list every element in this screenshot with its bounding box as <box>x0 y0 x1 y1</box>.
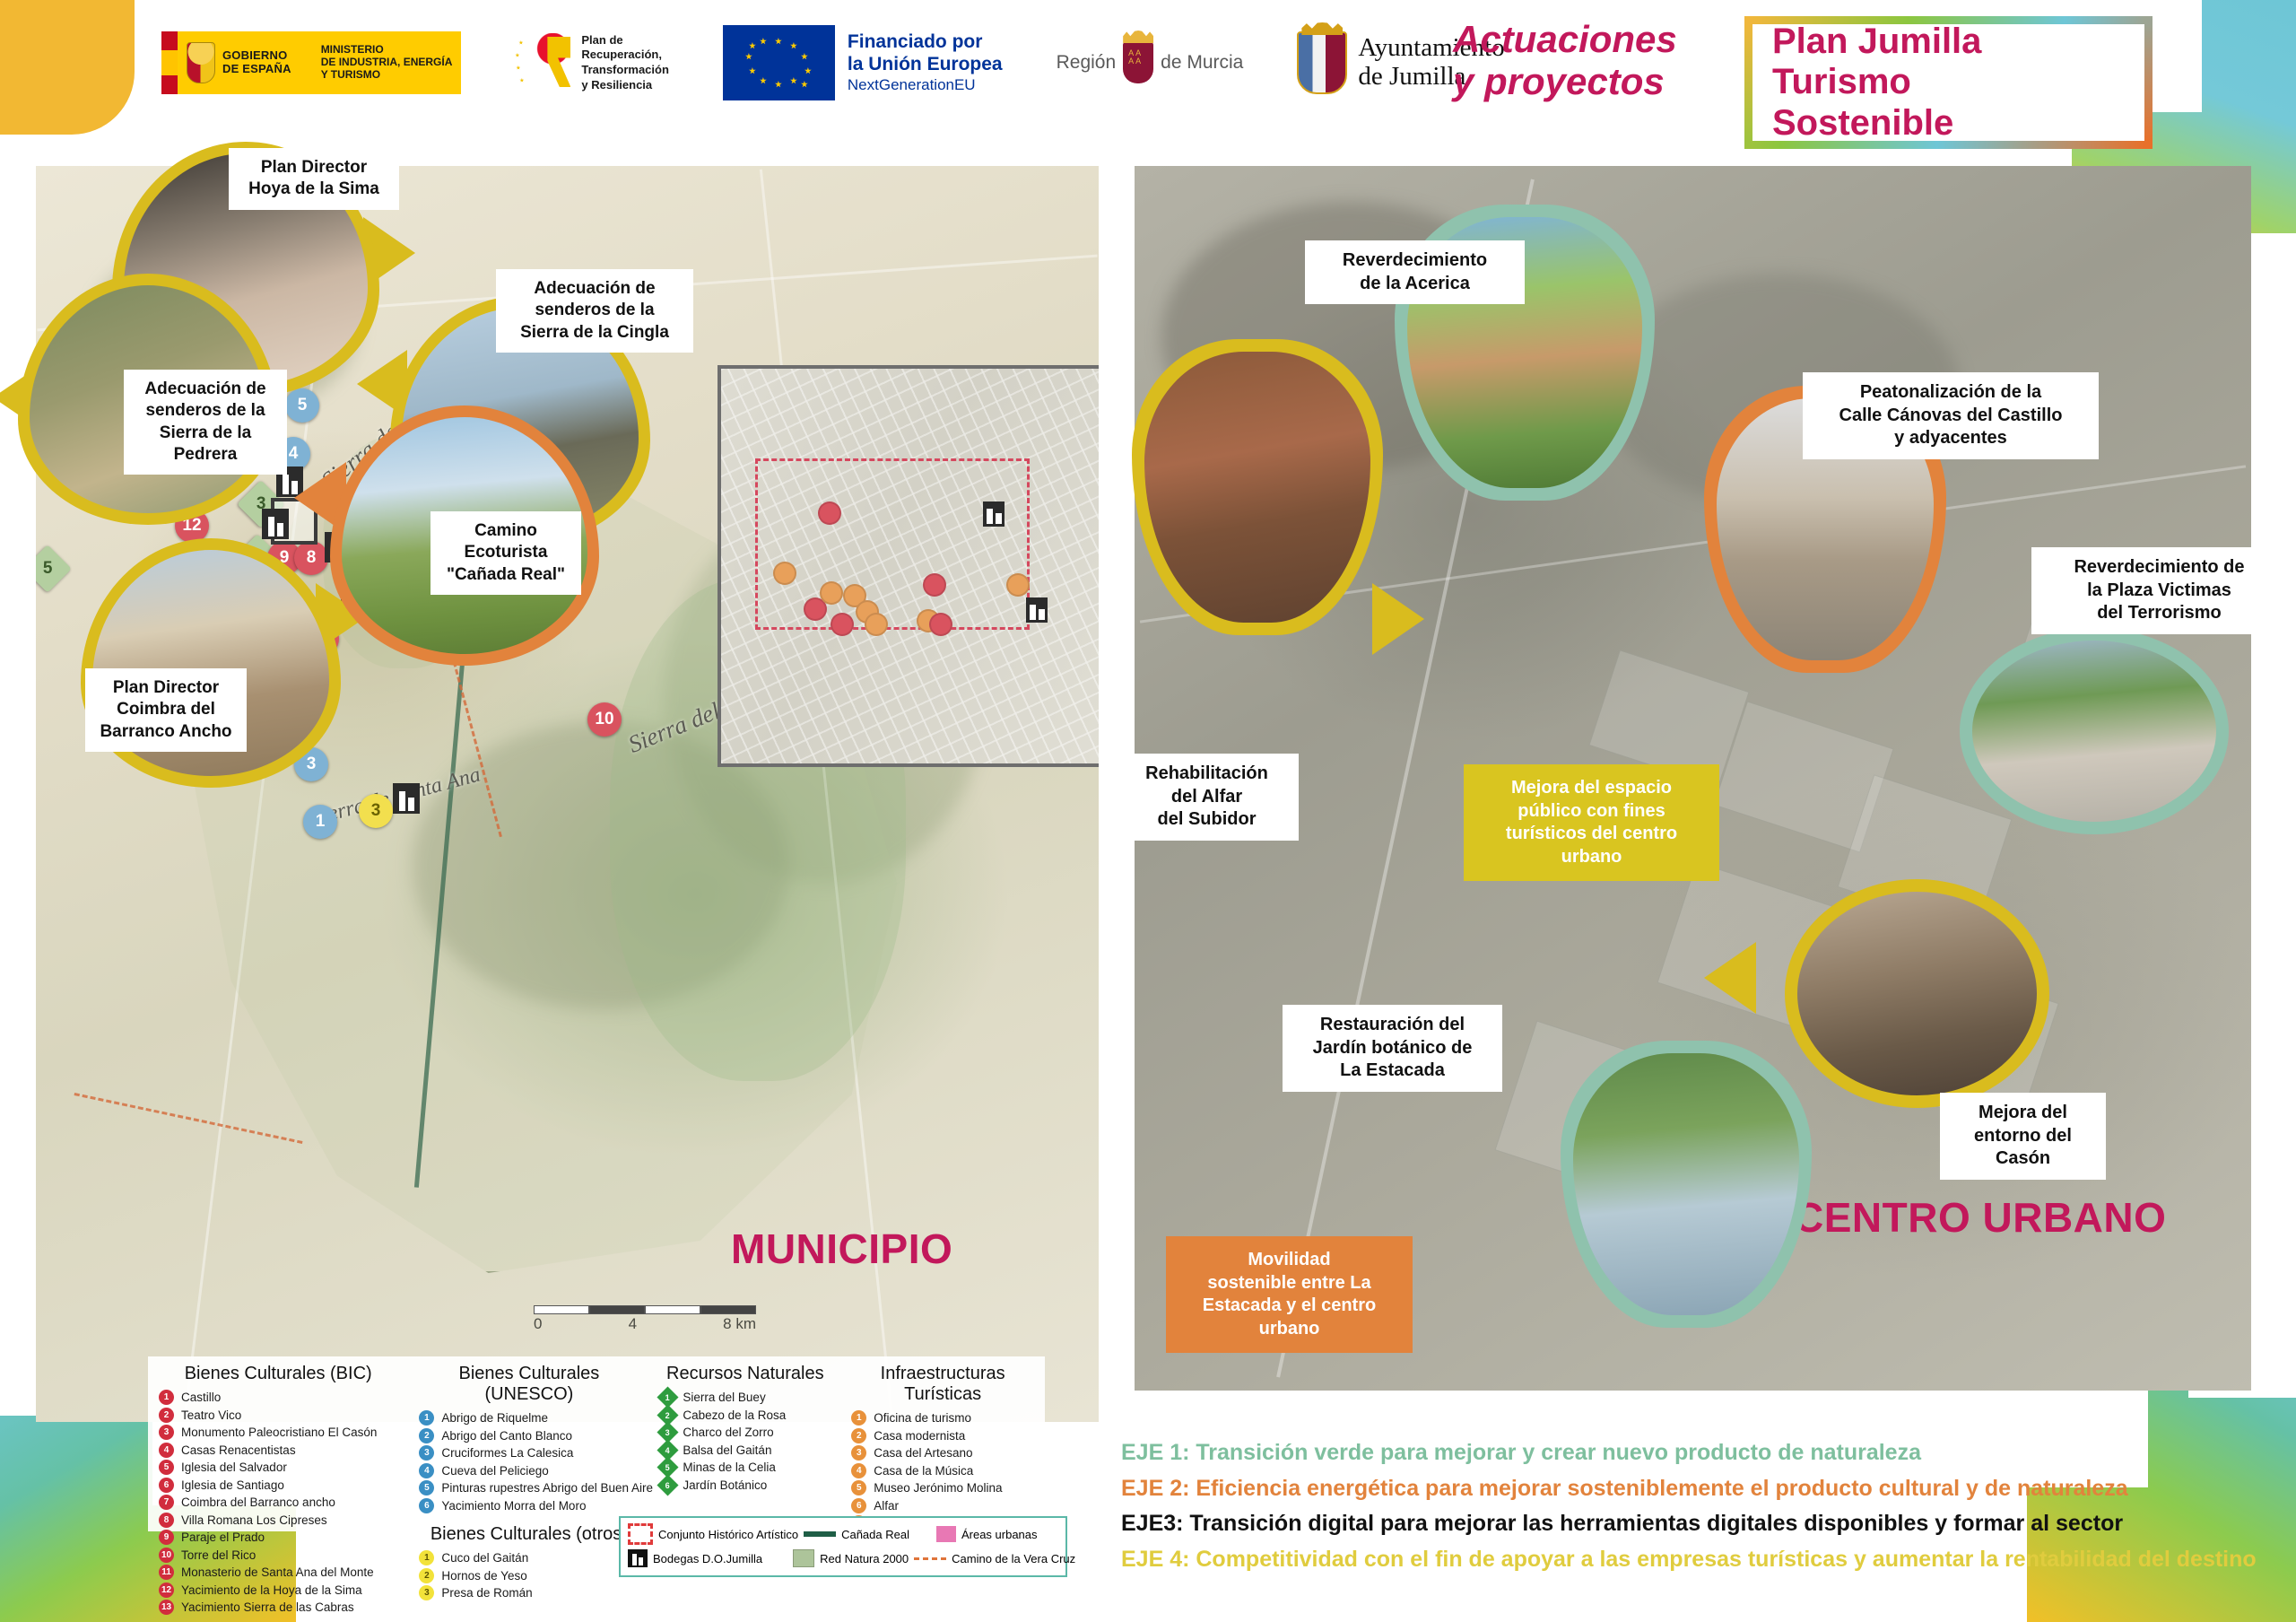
scale-tick-0: 0 <box>534 1315 542 1333</box>
legend-item: 2Teatro Vico <box>159 1408 397 1423</box>
legend-item-label: Charco del Zorro <box>683 1426 773 1439</box>
inset-pin-red <box>831 613 854 636</box>
circle-marker-icon: 12 <box>159 1583 174 1598</box>
legend-item: 1Sierra del Buey <box>660 1390 830 1405</box>
legend-item-label: Casa de la Música <box>874 1464 973 1478</box>
legend-item: 1Abrigo de Riquelme <box>419 1410 639 1426</box>
circle-marker-icon: 7 <box>159 1495 174 1510</box>
murcia-left-word: Región <box>1057 52 1117 74</box>
crown-icon <box>1123 31 1153 43</box>
legend-item: 6Yacimiento Morra del Moro <box>419 1498 639 1513</box>
legend-symbol-natura: Red Natura 2000 <box>820 1552 909 1565</box>
legend-item-label: Iglesia de Santiago <box>181 1478 284 1492</box>
camino-vera-cruz-icon <box>914 1557 946 1560</box>
legend-item-label: Villa Romana Los Cipreses <box>181 1513 327 1527</box>
legend-group-unesco: Bienes Culturales (UNESCO) 1Abrigo de Ri… <box>419 1364 639 1524</box>
map-pin-1-blue[interactable]: 1 <box>303 805 337 839</box>
inset-pin-red <box>929 613 952 636</box>
historic-center-boundary <box>755 458 1030 630</box>
legend-symbol-conjunto: Conjunto Histórico Artístico <box>658 1528 798 1541</box>
legend-item: 1Oficina de turismo <box>851 1410 1034 1426</box>
legend-item-label: Torre del Rico <box>181 1548 256 1562</box>
murcia-right-word: de Murcia <box>1161 52 1243 74</box>
legend-item-label: Monasterio de Santa Ana del Monte <box>181 1565 374 1579</box>
legend-item-label: Balsa del Gaitán <box>683 1443 771 1457</box>
legend-item-label: Paraje el Prado <box>181 1530 265 1544</box>
circle-marker-icon: 5 <box>851 1480 866 1496</box>
circle-marker-icon: 3 <box>159 1425 174 1440</box>
circle-marker-icon: 1 <box>419 1410 434 1426</box>
legend-item-label: Yacimiento Morra del Moro <box>441 1499 586 1513</box>
inset-pin-orange <box>773 562 796 585</box>
legend-item-label: Casa modernista <box>874 1429 965 1443</box>
legend-title-naturales: Recursos Naturales <box>660 1364 830 1384</box>
legend-item: 4Casas Renacentistas <box>159 1443 397 1458</box>
legend-item-label: Abrigo de Riquelme <box>441 1411 548 1425</box>
gobierno-label: GOBIERNO DE ESPAÑA <box>222 49 291 75</box>
legend-item: 4Cueva del Peliciego <box>419 1463 639 1478</box>
label-plan-director-coimbra: Plan Director Coimbra del Barranco Ancho <box>85 668 247 752</box>
circle-marker-icon: 9 <box>159 1530 174 1545</box>
eu-flag-icon <box>723 25 835 100</box>
circle-marker-icon: 6 <box>159 1478 174 1493</box>
inset-pin-orange <box>820 581 843 605</box>
prtr-stars-icon <box>515 39 527 87</box>
legend-item: 8Villa Romana Los Cipreses <box>159 1513 397 1528</box>
label-movilidad-sostenible: Movilidad sostenible entre La Estacada y… <box>1166 1236 1413 1353</box>
legend-item: 1Cuco del Gaitán <box>419 1550 639 1565</box>
bodegas-icon <box>628 1549 648 1567</box>
scale-tick-4: 4 <box>629 1315 637 1333</box>
legend-title-otros: Bienes Culturales (otros) <box>419 1524 639 1545</box>
eu-financed-text: Financiado por la Unión Europea <box>848 31 1003 76</box>
inset-pin-orange <box>1006 573 1030 597</box>
legend-item: 3Cruciformes La Calesica <box>419 1445 639 1461</box>
eje-3: EJE3: Transición digital para mejorar la… <box>1121 1506 2278 1542</box>
legend-item-label: Museo Jerónimo Molina <box>874 1481 1002 1495</box>
inset-pin-orange <box>865 613 888 636</box>
legend-item: 3Presa de Román <box>419 1585 639 1600</box>
circle-marker-icon: 5 <box>419 1480 434 1496</box>
eu-nextgeneration-text: NextGenerationEU <box>848 76 1003 94</box>
label-peatonalizacion-canovas: Peatonalización de la Calle Cánovas del … <box>1803 372 2099 459</box>
circle-marker-icon: 3 <box>419 1445 434 1461</box>
circle-marker-icon: 2 <box>419 1428 434 1443</box>
eje-1: EJE 1: Transición verde para mejorar y c… <box>1121 1435 2278 1471</box>
winery-icon <box>393 783 420 814</box>
legend-item-label: Pinturas rupestres Abrigo del Buen Aire <box>441 1481 653 1495</box>
legend-item: 1Castillo <box>159 1390 397 1405</box>
legend-item: 2Hornos de Yeso <box>419 1568 639 1583</box>
legend-items-bic: 1Castillo2Teatro Vico3Monumento Paleocri… <box>159 1390 397 1618</box>
circle-marker-icon: 4 <box>159 1443 174 1458</box>
conjunto-historico-icon <box>628 1523 653 1545</box>
winery-icon <box>983 501 1004 527</box>
label-rehabilitacion-alfar: Rehabilitación del Alfar del Subidor <box>1115 754 1299 841</box>
legend-item: 3Casa del Artesano <box>851 1445 1034 1461</box>
legend-item-label: Yacimiento de la Hoya de la Sima <box>181 1583 362 1597</box>
plan-title-text: Plan Jumilla Turismo Sostenible <box>1772 22 1981 144</box>
legend-item: 12Yacimiento de la Hoya de la Sima <box>159 1583 397 1598</box>
legend-items-naturales: 1Sierra del Buey2Cabezo de la Rosa3Charc… <box>660 1390 830 1495</box>
label-senderos-cingla: Adecuación de senderos de la Sierra de l… <box>496 269 693 353</box>
legend-symbol-veracruz: Camino de la Vera Cruz <box>952 1552 1075 1565</box>
map-pin-10[interactable]: 10 <box>587 702 622 737</box>
jumilla-shield-icon <box>1297 31 1347 94</box>
circle-marker-icon: 10 <box>159 1548 174 1563</box>
photo-cason[interactable] <box>1785 879 2049 1108</box>
actuaciones-title: Actuaciones y proyectos <box>1453 18 1722 102</box>
legend-item: 6Jardín Botánico <box>660 1478 830 1493</box>
legend-title-bic: Bienes Culturales (BIC) <box>159 1364 397 1384</box>
region-de-murcia-logo: Región AAAA de Murcia <box>1057 42 1244 83</box>
map-pin-3-yellow[interactable]: 3 <box>359 794 393 828</box>
legend-items-unesco: 1Abrigo de Riquelme2Abrigo del Canto Bla… <box>419 1410 639 1515</box>
circle-marker-icon: 6 <box>419 1498 434 1513</box>
photo-jardin-botanico[interactable] <box>1561 1041 1812 1328</box>
red-natura-icon <box>793 1549 814 1567</box>
map-right-title: CENTRO URBANO <box>1794 1193 2166 1242</box>
inset-pin-red <box>923 573 946 597</box>
legend-item-label: Teatro Vico <box>181 1408 241 1422</box>
murcia-castles-icon: AAAA <box>1128 49 1143 65</box>
legend-item-label: Casas Renacentistas <box>181 1443 296 1457</box>
prtr-mark-icon <box>515 33 570 92</box>
funder-logos: GOBIERNO DE ESPAÑA MINISTERIO DE INDUSTR… <box>161 25 1505 100</box>
scale-bar: 0 4 8 km <box>534 1305 756 1333</box>
legend-item: 9Paraje el Prado <box>159 1530 397 1545</box>
legend-item-label: Iglesia del Salvador <box>181 1461 287 1474</box>
legend-item-label: Cueva del Peliciego <box>441 1464 548 1478</box>
label-senderos-pedrera: Adecuación de senderos de la Sierra de l… <box>124 370 287 475</box>
legend-item-label: Monumento Paleocristiano El Casón <box>181 1426 377 1439</box>
label-camino-ecoturista: Camino Ecoturista "Cañada Real" <box>430 511 581 595</box>
label-reverdecimiento-acerica: Reverdecimiento de la Acerica <box>1305 240 1525 304</box>
circle-marker-icon: 4 <box>851 1463 866 1478</box>
eje-4: EJE 4: Competitividad con el fin de apoy… <box>1121 1542 2278 1578</box>
european-union-logo: Financiado por la Unión Europea NextGene… <box>723 25 1003 100</box>
label-plan-director-hoya: Plan Director Hoya de la Sima <box>229 148 399 210</box>
urban-inset-map[interactable] <box>717 365 1099 767</box>
legend-item-label: Casa del Artesano <box>874 1446 972 1460</box>
legend-item: 5Minas de la Celia <box>660 1460 830 1475</box>
legend-item-label: Cuco del Gaitán <box>441 1551 528 1565</box>
gobierno-line2: DE ESPAÑA <box>222 62 291 75</box>
circle-marker-icon: 1 <box>159 1390 174 1405</box>
circle-marker-icon: 2 <box>851 1428 866 1443</box>
legend-item: 5Museo Jerónimo Molina <box>851 1480 1034 1496</box>
circle-marker-icon: 13 <box>159 1600 174 1615</box>
circle-marker-icon: 11 <box>159 1565 174 1580</box>
circle-marker-icon: 1 <box>851 1410 866 1426</box>
label-reverdecimiento-plaza: Reverdecimiento de la Plaza Victimas del… <box>2031 547 2287 634</box>
legend-item: 4Casa de la Música <box>851 1463 1034 1478</box>
circle-marker-icon: 2 <box>159 1408 174 1423</box>
legend-item: 2Casa modernista <box>851 1428 1034 1443</box>
legend-item-label: Presa de Román <box>441 1586 532 1600</box>
legend-symbol-canada: Cañada Real <box>841 1528 909 1541</box>
label-restauracion-jardin: Restauración del Jardín botánico de La E… <box>1283 1005 1502 1092</box>
circle-marker-icon: 6 <box>851 1498 866 1513</box>
circle-marker-icon: 8 <box>159 1513 174 1528</box>
legend-item: 6Alfar <box>851 1498 1034 1513</box>
legend-item: 11Monasterio de Santa Ana del Monte <box>159 1565 397 1580</box>
legend-item: 2Abrigo del Canto Blanco <box>419 1428 639 1443</box>
legend-item-label: Alfar <box>874 1499 899 1513</box>
circle-marker-icon: 2 <box>419 1568 434 1583</box>
legend-item-label: Cruciformes La Calesica <box>441 1446 573 1460</box>
photo-alfar-subidor[interactable] <box>1132 339 1383 635</box>
circle-marker-icon: 5 <box>159 1460 174 1475</box>
circle-marker-icon: 1 <box>419 1550 434 1565</box>
legend-item: 5Pinturas rupestres Abrigo del Buen Aire <box>419 1480 639 1496</box>
legend-item: 5Iglesia del Salvador <box>159 1460 397 1475</box>
ejes-list: EJE 1: Transición verde para mejorar y c… <box>1121 1435 2278 1577</box>
inset-pin-red <box>818 501 841 525</box>
legend-item-label: Castillo <box>181 1391 221 1404</box>
header-bar: GOBIERNO DE ESPAÑA MINISTERIO DE INDUSTR… <box>0 0 2296 161</box>
legend-group-bic: Bienes Culturales (BIC) 1Castillo2Teatro… <box>159 1364 397 1524</box>
legend-item: 10Torre del Rico <box>159 1548 397 1563</box>
spain-coat-of-arms-icon <box>187 42 215 83</box>
circle-marker-icon: 3 <box>419 1585 434 1600</box>
legend-item-label: Abrigo del Canto Blanco <box>441 1429 572 1443</box>
plan-title-box: Plan Jumilla Turismo Sostenible <box>1744 16 2152 149</box>
circle-marker-icon: 4 <box>419 1463 434 1478</box>
map-legend: Bienes Culturales (BIC) 1Castillo2Teatro… <box>148 1356 1045 1531</box>
label-mejora-espacio-publico: Mejora del espacio público con fines tur… <box>1464 764 1719 881</box>
legend-symbols-box: Conjunto Histórico Artístico Cañada Real… <box>619 1516 1067 1577</box>
legend-item: 2Cabezo de la Rosa <box>660 1408 830 1423</box>
legend-symbol-bodegas: Bodegas D.O.Jumilla <box>653 1552 762 1565</box>
legend-item: 13Yacimiento Sierra de las Cabras <box>159 1600 397 1615</box>
scale-tick-8: 8 km <box>723 1315 756 1333</box>
ministerio-label: MINISTERIO DE INDUSTRIA, ENERGÍA Y TURIS… <box>321 44 453 81</box>
legend-item-label: Jardín Botánico <box>683 1478 767 1492</box>
areas-urbanas-icon <box>936 1526 956 1542</box>
eje-2: EJE 2: Eficiencia energética para mejora… <box>1121 1471 2278 1507</box>
legend-item: 4Balsa del Gaitán <box>660 1443 830 1458</box>
crown-icon <box>1301 22 1343 35</box>
legend-title-unesco: Bienes Culturales (UNESCO) <box>419 1364 639 1405</box>
plan-recuperacion-logo: Plan de Recuperación, Transformación y R… <box>515 33 669 93</box>
legend-group-naturales: Recursos Naturales 1Sierra del Buey2Cabe… <box>660 1364 830 1524</box>
legend-item: 3Monumento Paleocristiano El Casón <box>159 1425 397 1440</box>
map-pin-5-green[interactable]: 5 <box>36 545 72 593</box>
legend-item-label: Sierra del Buey <box>683 1391 765 1404</box>
circle-marker-icon: 3 <box>851 1445 866 1461</box>
legend-item-label: Hornos de Yeso <box>441 1569 526 1583</box>
legend-item: 6Iglesia de Santiago <box>159 1478 397 1493</box>
legend-item: 7Coimbra del Barranco ancho <box>159 1495 397 1510</box>
legend-item-label: Cabezo de la Rosa <box>683 1408 786 1422</box>
gobierno-line1: GOBIERNO <box>222 48 287 62</box>
legend-item: 3Charco del Zorro <box>660 1425 830 1440</box>
murcia-shield-icon: AAAA <box>1123 42 1153 83</box>
legend-item-label: Minas de la Celia <box>683 1461 776 1474</box>
legend-group-infraestructuras: Infraestructuras Turísticas 1Oficina de … <box>851 1364 1034 1524</box>
legend-item-label: Yacimiento Sierra de las Cabras <box>181 1600 354 1614</box>
pointer-cason <box>1704 942 1756 1014</box>
legend-item-label: Oficina de turismo <box>874 1411 971 1425</box>
diamond-marker-icon: 6 <box>657 1474 679 1496</box>
prtr-text: Plan de Recuperación, Transformación y R… <box>581 33 669 93</box>
legend-item-label: Coimbra del Barranco ancho <box>181 1496 335 1509</box>
map-left-title: MUNICIPIO <box>731 1225 952 1273</box>
legend-items-otros: 1Cuco del Gaitán2Hornos de Yeso3Presa de… <box>419 1550 639 1603</box>
gobierno-de-espana-logo: GOBIERNO DE ESPAÑA MINISTERIO DE INDUSTR… <box>161 31 461 94</box>
label-mejora-entorno-cason: Mejora del entorno del Casón <box>1940 1093 2106 1180</box>
legend-title-infraestructuras: Infraestructuras Turísticas <box>851 1364 1034 1405</box>
winery-icon <box>1026 597 1048 623</box>
spain-flag-icon <box>161 31 178 94</box>
photo-plaza-victimas[interactable] <box>1960 628 2229 834</box>
canada-real-icon <box>804 1531 836 1537</box>
legend-symbol-urbanas: Áreas urbanas <box>961 1528 1038 1541</box>
